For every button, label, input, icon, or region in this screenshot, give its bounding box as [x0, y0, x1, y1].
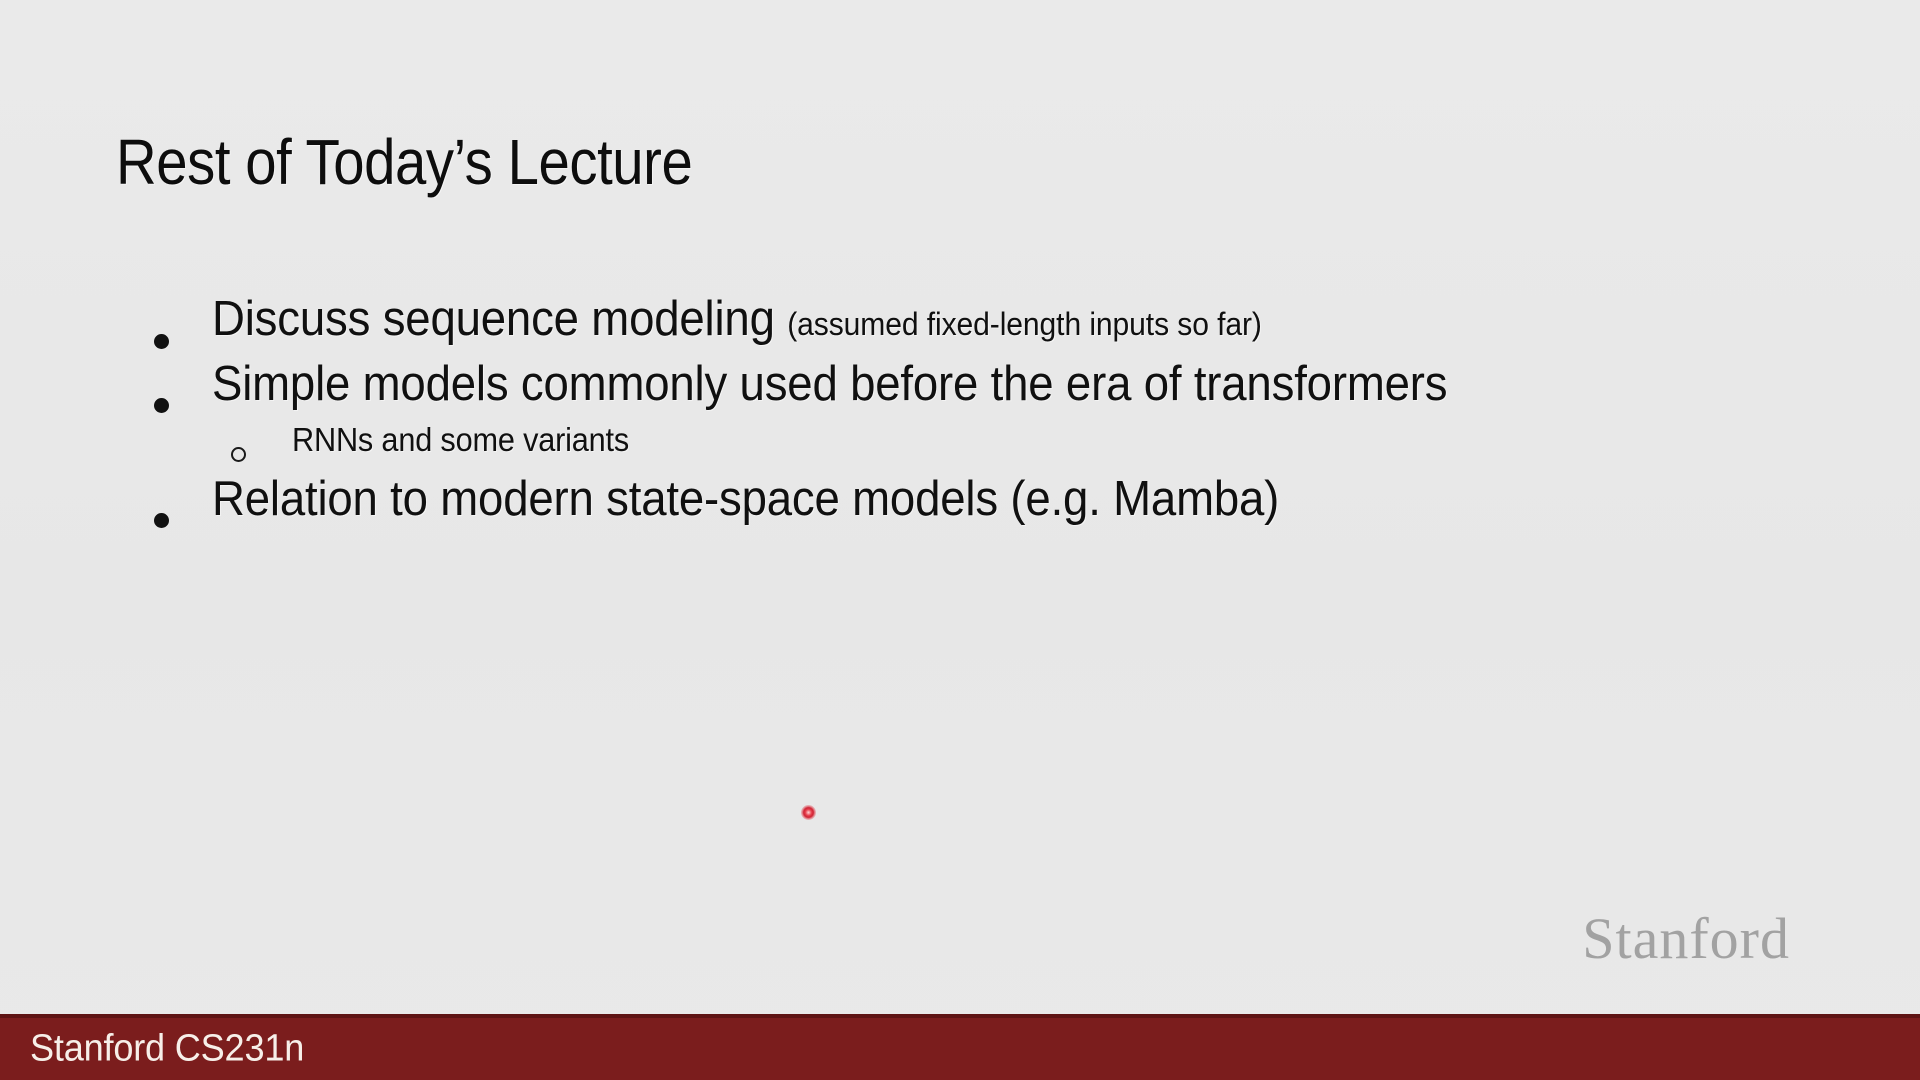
- bullet-item-3: RNNs and some variants: [132, 419, 1852, 461]
- bullet-item-2: Simple models commonly used before the e…: [132, 353, 1852, 416]
- laser-pointer-dot: [801, 805, 816, 820]
- bullet-disc-icon: [146, 490, 176, 546]
- bullet-list: Discuss sequence modeling (assumed fixed…: [132, 288, 1852, 532]
- bullet-item-3-text: RNNs and some variants: [292, 419, 1852, 461]
- bullet-item-1-text: Discuss sequence modeling: [212, 292, 787, 346]
- slide-title: Rest of Today’s Lecture: [116, 129, 692, 196]
- presentation-slide: Rest of Today’s Lecture Discuss sequence…: [0, 0, 1920, 1080]
- footer-bar: Stanford CS231n: [0, 1014, 1920, 1080]
- bullet-circle-icon: [226, 433, 250, 471]
- stanford-wordmark: Stanford: [1582, 910, 1790, 968]
- bullet-item-1-text-wrapper: Discuss sequence modeling (assumed fixed…: [212, 288, 1852, 351]
- footer-course-label: Stanford CS231n: [30, 1028, 304, 1071]
- bullet-item-4-text: Relation to modern state-space models (e…: [212, 468, 1852, 531]
- bullet-item-4: Relation to modern state-space models (e…: [132, 468, 1852, 531]
- bullet-item-2-text: Simple models commonly used before the e…: [212, 353, 1852, 416]
- bullet-item-1-note: (assumed fixed-length inputs so far): [787, 306, 1262, 342]
- bullet-item-1: Discuss sequence modeling (assumed fixed…: [132, 288, 1852, 351]
